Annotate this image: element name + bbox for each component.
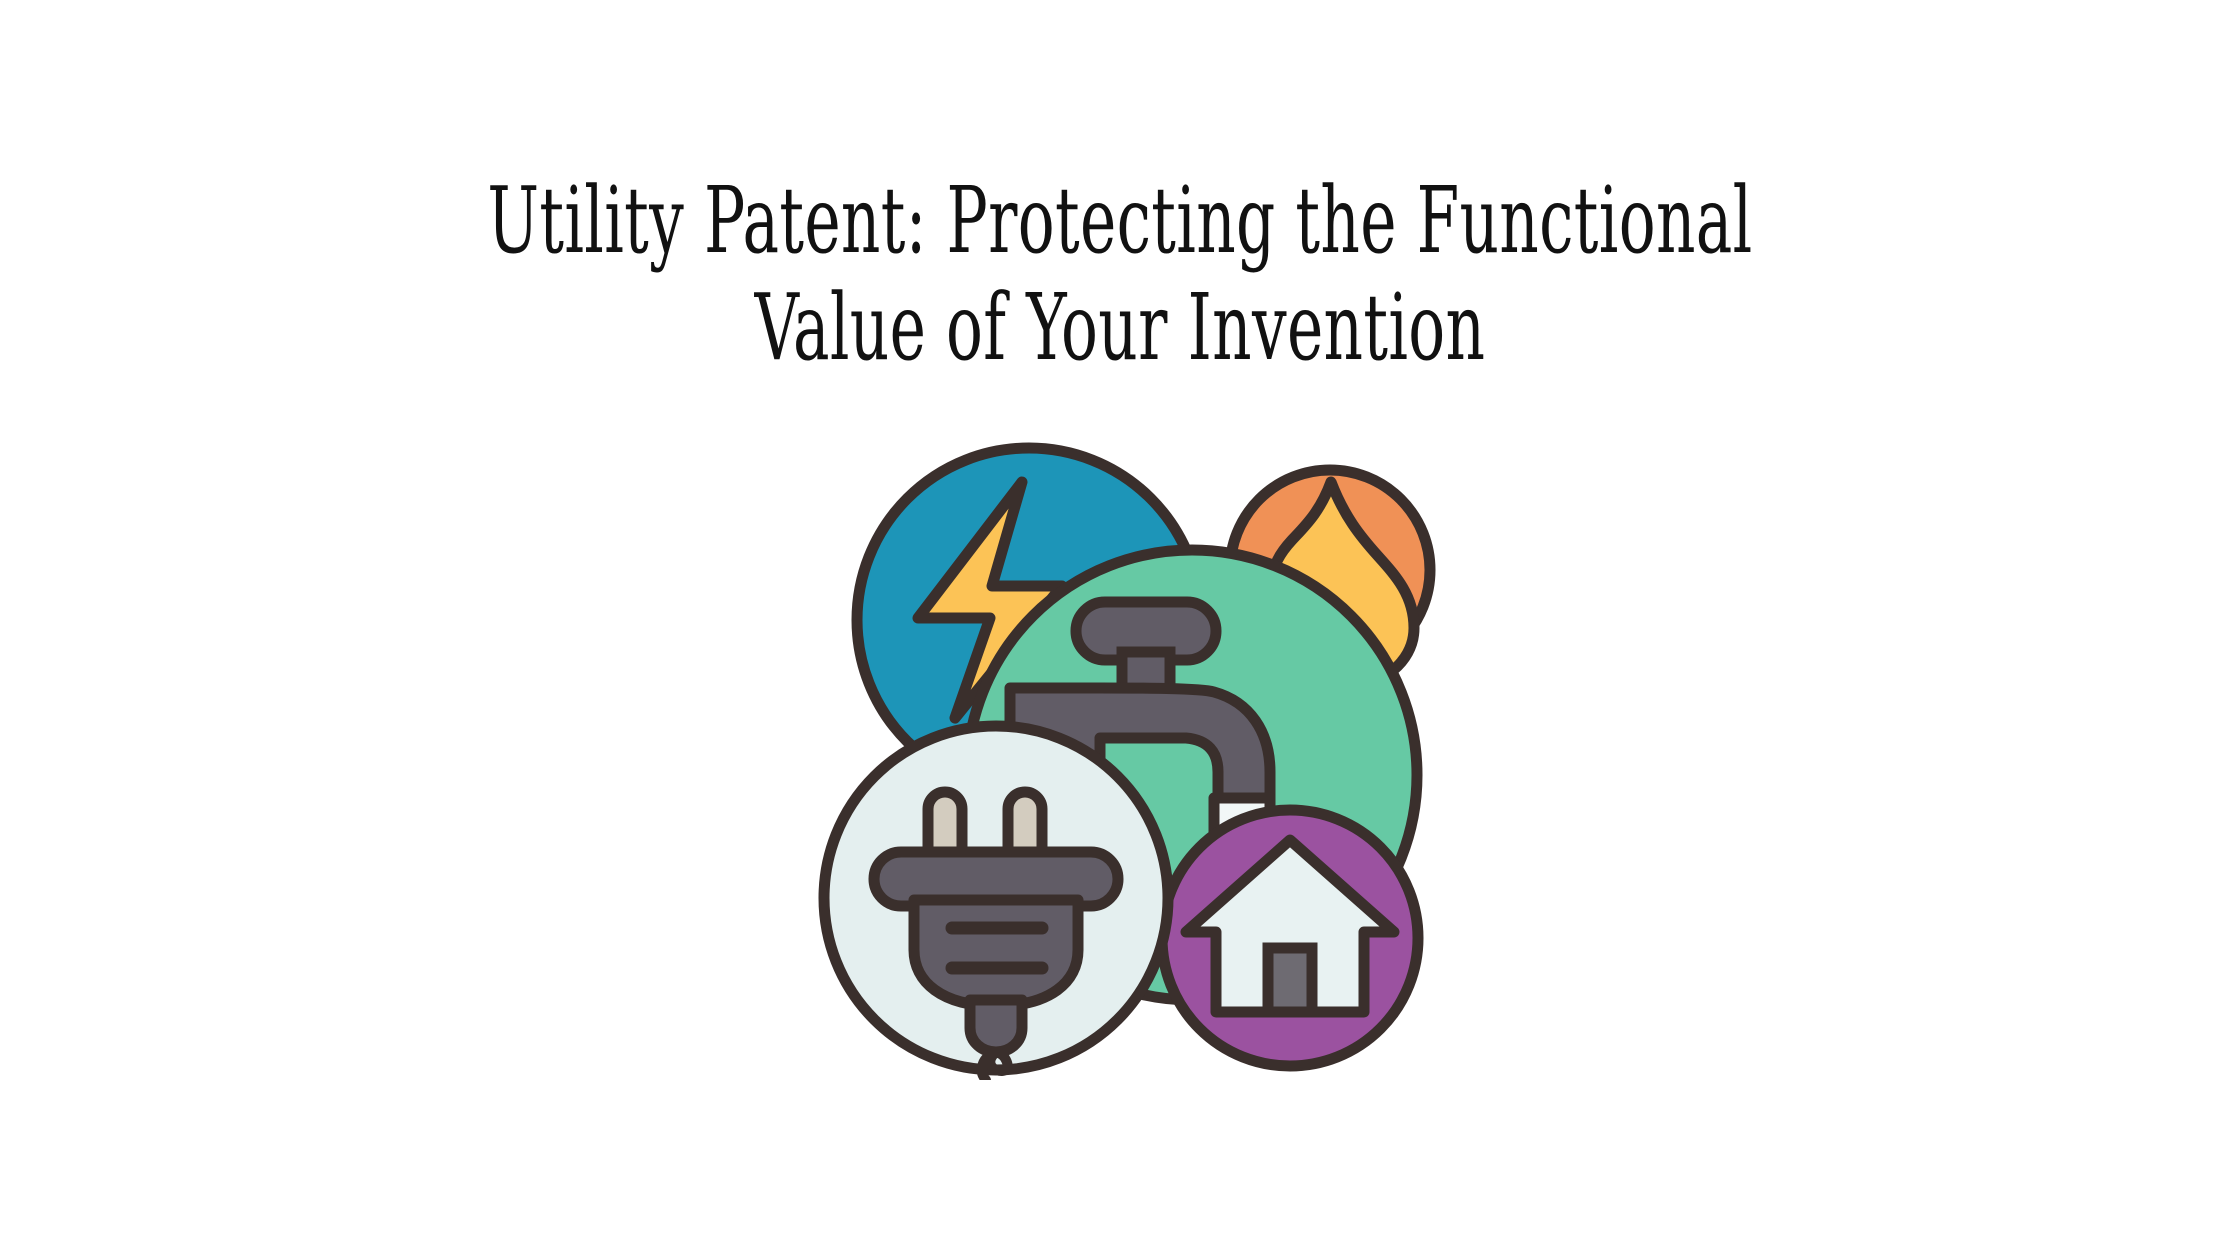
plug-cord-icon (982, 1052, 1008, 1080)
badge-home (1162, 810, 1418, 1066)
page-title: Utility Patent: Protecting the Functiona… (0, 168, 2240, 381)
utility-icon-cluster-svg (800, 420, 1480, 1080)
plug-body-icon (914, 900, 1078, 1006)
plug-neck-icon (970, 1000, 1022, 1052)
page-title-line-1: Utility Patent: Protecting the Functiona… (291, 168, 1949, 275)
slide-root: Utility Patent: Protecting the Functiona… (0, 0, 2240, 1260)
badge-power-plug (824, 726, 1168, 1080)
house-door-icon (1268, 948, 1312, 1012)
utility-icon-cluster (800, 420, 1480, 1080)
page-title-line-2: Value of Your Invention (291, 275, 1949, 382)
